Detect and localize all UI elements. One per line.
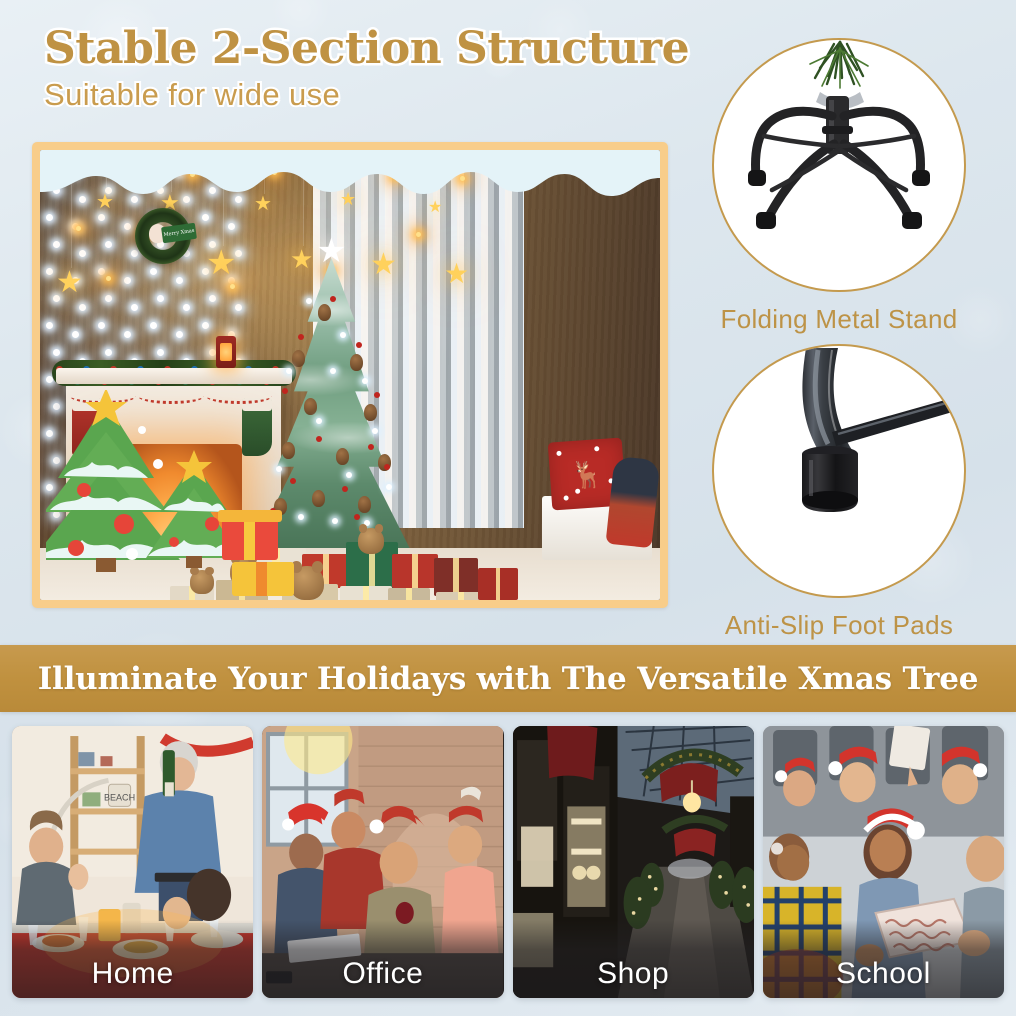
use-case-label-office: Office [262, 957, 503, 991]
page-subtitle: Suitable for wide use [44, 77, 704, 113]
reindeer-icon: 🦌 [570, 459, 604, 492]
star-light-icon: ★ [340, 190, 356, 208]
use-case-label-home: Home [12, 957, 253, 991]
mantel-lantern [216, 336, 236, 368]
berry [342, 486, 348, 492]
pinecone [336, 448, 349, 465]
berry [368, 444, 374, 450]
feature-image-footpad [712, 344, 966, 598]
feature-label-footpad: Anti-Slip Foot Pads [712, 610, 966, 641]
promo-banner: Illuminate Your Holidays with The Versat… [0, 645, 1016, 712]
santa-doll [606, 456, 660, 548]
use-case-thumb-school[interactable]: School [763, 726, 1004, 998]
berry [356, 342, 362, 348]
gift-box [478, 568, 518, 600]
pinecone [304, 398, 317, 415]
cartoon-tree-illustration [46, 390, 296, 600]
header: Stable 2-Section Structure Suitable for … [44, 26, 704, 113]
feature-card-footpad: Anti-Slip Foot Pads [712, 344, 966, 641]
foot-pad-icon [714, 346, 966, 598]
svg-text:BEACH: BEACH [104, 792, 135, 802]
pinecone [312, 490, 325, 507]
star-light-icon: ★ [238, 166, 252, 182]
pinecone [364, 404, 377, 421]
pinecone [358, 496, 371, 513]
use-case-label-shop: Shop [513, 957, 754, 991]
use-case-thumb-shop[interactable]: Shop [513, 726, 754, 998]
teddy-bear [358, 528, 384, 554]
gift-box [434, 558, 478, 596]
pinecone [350, 354, 363, 371]
use-case-thumb-home[interactable]: BEACH [12, 726, 253, 998]
star-light-icon: ★ [444, 260, 469, 288]
gift-box [392, 554, 438, 588]
hero-photo: ★★★★★★★★★★★★★ Merry Xmas ★ 🦌 [40, 150, 660, 600]
use-case-label-school: School [763, 957, 1004, 991]
star-light-icon: ★ [96, 192, 114, 212]
feature-card-stand: Folding Metal Stand [712, 38, 966, 335]
tree-stand-icon [714, 40, 966, 292]
christmas-wreath: Merry Xmas [135, 208, 191, 264]
gift-box [340, 586, 392, 600]
hero-photo-frame: ★★★★★★★★★★★★★ Merry Xmas ★ 🦌 [32, 142, 668, 608]
berry [330, 296, 336, 302]
star-light-icon: ★ [206, 246, 236, 280]
star-light-icon: ★ [128, 164, 141, 178]
star-light-icon: ★ [312, 166, 325, 180]
use-case-gallery: BEACH [0, 726, 1016, 998]
gift-box [388, 588, 430, 600]
berry [298, 334, 304, 340]
use-case-thumb-office[interactable]: Office [262, 726, 503, 998]
berry [374, 392, 380, 398]
berry [354, 514, 360, 520]
page-title: Stable 2-Section Structure [44, 26, 704, 73]
pinecone [318, 304, 331, 321]
berry [316, 436, 322, 442]
pinecone [292, 350, 305, 367]
star-light-icon: ★ [254, 194, 272, 214]
feature-image-stand [712, 38, 966, 292]
promo-banner-text: Illuminate Your Holidays with The Versat… [38, 661, 979, 697]
feature-label-stand: Folding Metal Stand [712, 304, 966, 335]
star-light-icon: ★ [428, 200, 442, 216]
star-light-icon: ★ [56, 268, 83, 298]
berry [384, 464, 390, 470]
